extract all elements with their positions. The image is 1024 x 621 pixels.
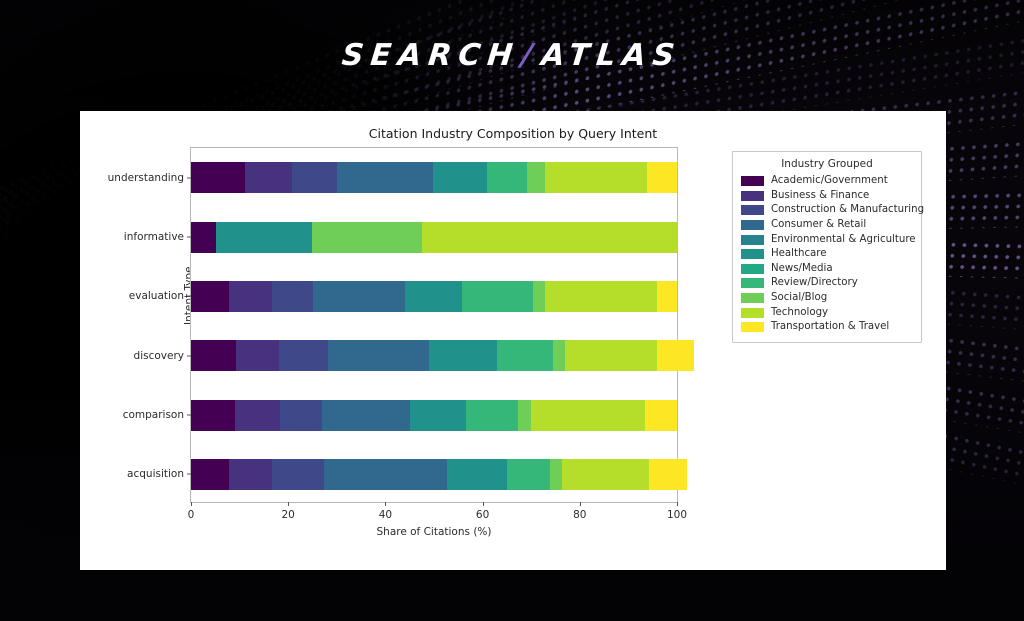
x-axis-tick-mark bbox=[580, 502, 581, 506]
bar-segment[interactable] bbox=[410, 400, 419, 431]
legend-item-label: Academic/Government bbox=[771, 176, 888, 186]
bar-segment[interactable] bbox=[442, 340, 497, 371]
bar-segment[interactable] bbox=[405, 281, 415, 312]
bar-segment[interactable] bbox=[536, 340, 552, 371]
chart-legend: Industry Grouped Academic/GovernmentBusi… bbox=[732, 151, 922, 343]
legend-item[interactable]: Consumer & Retail bbox=[741, 218, 913, 233]
legend-item-label: Review/Directory bbox=[771, 278, 858, 288]
bar-segment[interactable] bbox=[313, 281, 405, 312]
legend-color-swatch bbox=[741, 205, 764, 215]
bar-segment[interactable] bbox=[531, 400, 646, 431]
bar-segment[interactable] bbox=[545, 162, 648, 193]
legend-color-swatch bbox=[741, 293, 764, 303]
legend-color-swatch bbox=[741, 322, 764, 332]
bar-segment[interactable] bbox=[553, 340, 565, 371]
bar-segment[interactable] bbox=[191, 281, 229, 312]
bar-segment[interactable] bbox=[328, 340, 429, 371]
bar-segment[interactable] bbox=[527, 162, 545, 193]
bar-segment[interactable] bbox=[235, 400, 281, 431]
bar-segment[interactable] bbox=[537, 459, 549, 490]
y-axis-tick-label-informative: informative bbox=[124, 231, 184, 243]
x-axis-tick-label: 40 bbox=[379, 509, 392, 521]
bar-segment[interactable] bbox=[657, 340, 695, 371]
legend-item-label: Healthcare bbox=[771, 249, 827, 259]
x-axis-tick-label: 80 bbox=[573, 509, 586, 521]
bar-segment[interactable] bbox=[229, 281, 272, 312]
bar-understanding[interactable] bbox=[191, 162, 677, 193]
x-axis-tick-label: 0 bbox=[188, 509, 195, 521]
bar-segment[interactable] bbox=[418, 400, 466, 431]
legend-item-list: Academic/GovernmentBusiness & FinanceCon… bbox=[741, 174, 913, 335]
legend-item[interactable]: Business & Finance bbox=[741, 189, 913, 204]
legend-color-swatch bbox=[741, 308, 764, 318]
bar-segment[interactable] bbox=[245, 162, 292, 193]
chart-figure-panel: Citation Industry Composition by Query I… bbox=[80, 111, 946, 570]
legend-item[interactable]: Social/Blog bbox=[741, 291, 913, 306]
legend-item-label: Transportation & Travel bbox=[771, 322, 889, 332]
x-axis-tick-mark bbox=[677, 502, 678, 506]
bar-segment[interactable] bbox=[191, 340, 236, 371]
legend-item[interactable]: Transportation & Travel bbox=[741, 320, 913, 335]
bar-segment[interactable] bbox=[191, 162, 245, 193]
y-axis-tick-label-acquisition: acquisition bbox=[127, 468, 184, 480]
y-axis-tick-label-discovery: discovery bbox=[134, 350, 184, 362]
bar-segment[interactable] bbox=[533, 281, 545, 312]
bar-acquisition[interactable] bbox=[191, 459, 677, 490]
bar-segment[interactable] bbox=[562, 459, 649, 490]
legend-item[interactable]: Environmental & Agriculture bbox=[741, 232, 913, 247]
legend-item[interactable]: Academic/Government bbox=[741, 174, 913, 189]
legend-item-label: Technology bbox=[771, 308, 828, 318]
bar-segment[interactable] bbox=[337, 162, 433, 193]
bar-segment[interactable] bbox=[497, 340, 537, 371]
y-axis-tick-label-evaluation: evaluation bbox=[129, 290, 184, 302]
legend-item[interactable]: Construction & Manufacturing bbox=[741, 203, 913, 218]
legend-item-label: Business & Finance bbox=[771, 191, 869, 201]
bar-segment[interactable] bbox=[229, 459, 272, 490]
bar-segment[interactable] bbox=[460, 459, 507, 490]
bar-segment[interactable] bbox=[565, 340, 657, 371]
bar-segment[interactable] bbox=[657, 281, 677, 312]
logo-text-right: ATLAS bbox=[540, 38, 683, 73]
legend-item-label: Consumer & Retail bbox=[771, 220, 866, 230]
legend-item[interactable]: Technology bbox=[741, 305, 913, 320]
legend-color-swatch bbox=[741, 264, 764, 274]
bar-segment[interactable] bbox=[191, 459, 229, 490]
x-axis-tick-mark bbox=[191, 502, 192, 506]
legend-item-label: News/Media bbox=[771, 264, 833, 274]
y-axis-tick-label-understanding: understanding bbox=[108, 172, 184, 184]
bar-segment[interactable] bbox=[507, 459, 538, 490]
bar-segment[interactable] bbox=[272, 281, 314, 312]
bar-segment[interactable] bbox=[511, 400, 519, 431]
bar-segment[interactable] bbox=[415, 281, 462, 312]
bar-segment[interactable] bbox=[462, 281, 502, 312]
legend-item-label: Construction & Manufacturing bbox=[771, 205, 924, 215]
x-axis-tick-label: 20 bbox=[282, 509, 295, 521]
bar-comparison[interactable] bbox=[191, 400, 677, 431]
plot-area: Share of Citations (%) understandinginfo… bbox=[190, 147, 678, 503]
bar-segment[interactable] bbox=[518, 400, 530, 431]
x-axis-label: Share of Citations (%) bbox=[191, 526, 677, 538]
bar-segment[interactable] bbox=[216, 222, 313, 253]
bar-segment[interactable] bbox=[236, 340, 280, 371]
bar-segment[interactable] bbox=[433, 162, 487, 193]
legend-item-label: Environmental & Agriculture bbox=[771, 235, 916, 245]
bar-segment[interactable] bbox=[422, 222, 677, 253]
legend-color-swatch bbox=[741, 235, 764, 245]
bar-segment[interactable] bbox=[649, 459, 687, 490]
x-axis-tick-mark bbox=[288, 502, 289, 506]
bar-segment[interactable] bbox=[312, 222, 422, 253]
bar-segment[interactable] bbox=[502, 281, 533, 312]
bar-segment[interactable] bbox=[447, 459, 460, 490]
bar-segment[interactable] bbox=[466, 400, 511, 431]
bar-segment[interactable] bbox=[280, 400, 322, 431]
x-axis-tick-label: 100 bbox=[667, 509, 687, 521]
bar-discovery[interactable] bbox=[191, 340, 677, 371]
legend-item-label: Social/Blog bbox=[771, 293, 827, 303]
bar-segment[interactable] bbox=[272, 459, 324, 490]
x-axis-tick-label: 60 bbox=[476, 509, 489, 521]
legend-item[interactable]: Review/Directory bbox=[741, 276, 913, 291]
legend-item[interactable]: News/Media bbox=[741, 262, 913, 277]
legend-color-swatch bbox=[741, 220, 764, 230]
bar-segment[interactable] bbox=[645, 400, 677, 431]
search-atlas-logo: SEARCH/ATLAS bbox=[0, 38, 1024, 73]
legend-color-swatch bbox=[741, 278, 764, 288]
legend-item[interactable]: Healthcare bbox=[741, 247, 913, 262]
bar-segment[interactable] bbox=[322, 400, 409, 431]
x-axis-tick-mark bbox=[483, 502, 484, 506]
bar-segment[interactable] bbox=[429, 340, 442, 371]
logo-text-left: SEARCH bbox=[341, 38, 522, 73]
y-axis-tick-label-comparison: comparison bbox=[123, 409, 184, 421]
bar-segment[interactable] bbox=[487, 162, 527, 193]
legend-color-swatch bbox=[741, 249, 764, 259]
bar-segment[interactable] bbox=[191, 400, 235, 431]
chart-title: Citation Industry Composition by Query I… bbox=[80, 126, 946, 141]
legend-title: Industry Grouped bbox=[741, 158, 913, 170]
bar-segment[interactable] bbox=[292, 162, 338, 193]
bar-segment[interactable] bbox=[545, 281, 657, 312]
bar-evaluation[interactable] bbox=[191, 281, 677, 312]
bar-segment[interactable] bbox=[279, 340, 328, 371]
legend-color-swatch bbox=[741, 176, 764, 186]
x-axis-tick-mark bbox=[385, 502, 386, 506]
bar-segment[interactable] bbox=[191, 222, 216, 253]
bar-segment[interactable] bbox=[647, 162, 677, 193]
bar-segment[interactable] bbox=[324, 459, 447, 490]
legend-color-swatch bbox=[741, 191, 764, 201]
logo-wordmark: SEARCH/ATLAS bbox=[341, 38, 684, 73]
bar-informative[interactable] bbox=[191, 222, 677, 253]
bar-segment[interactable] bbox=[550, 459, 562, 490]
